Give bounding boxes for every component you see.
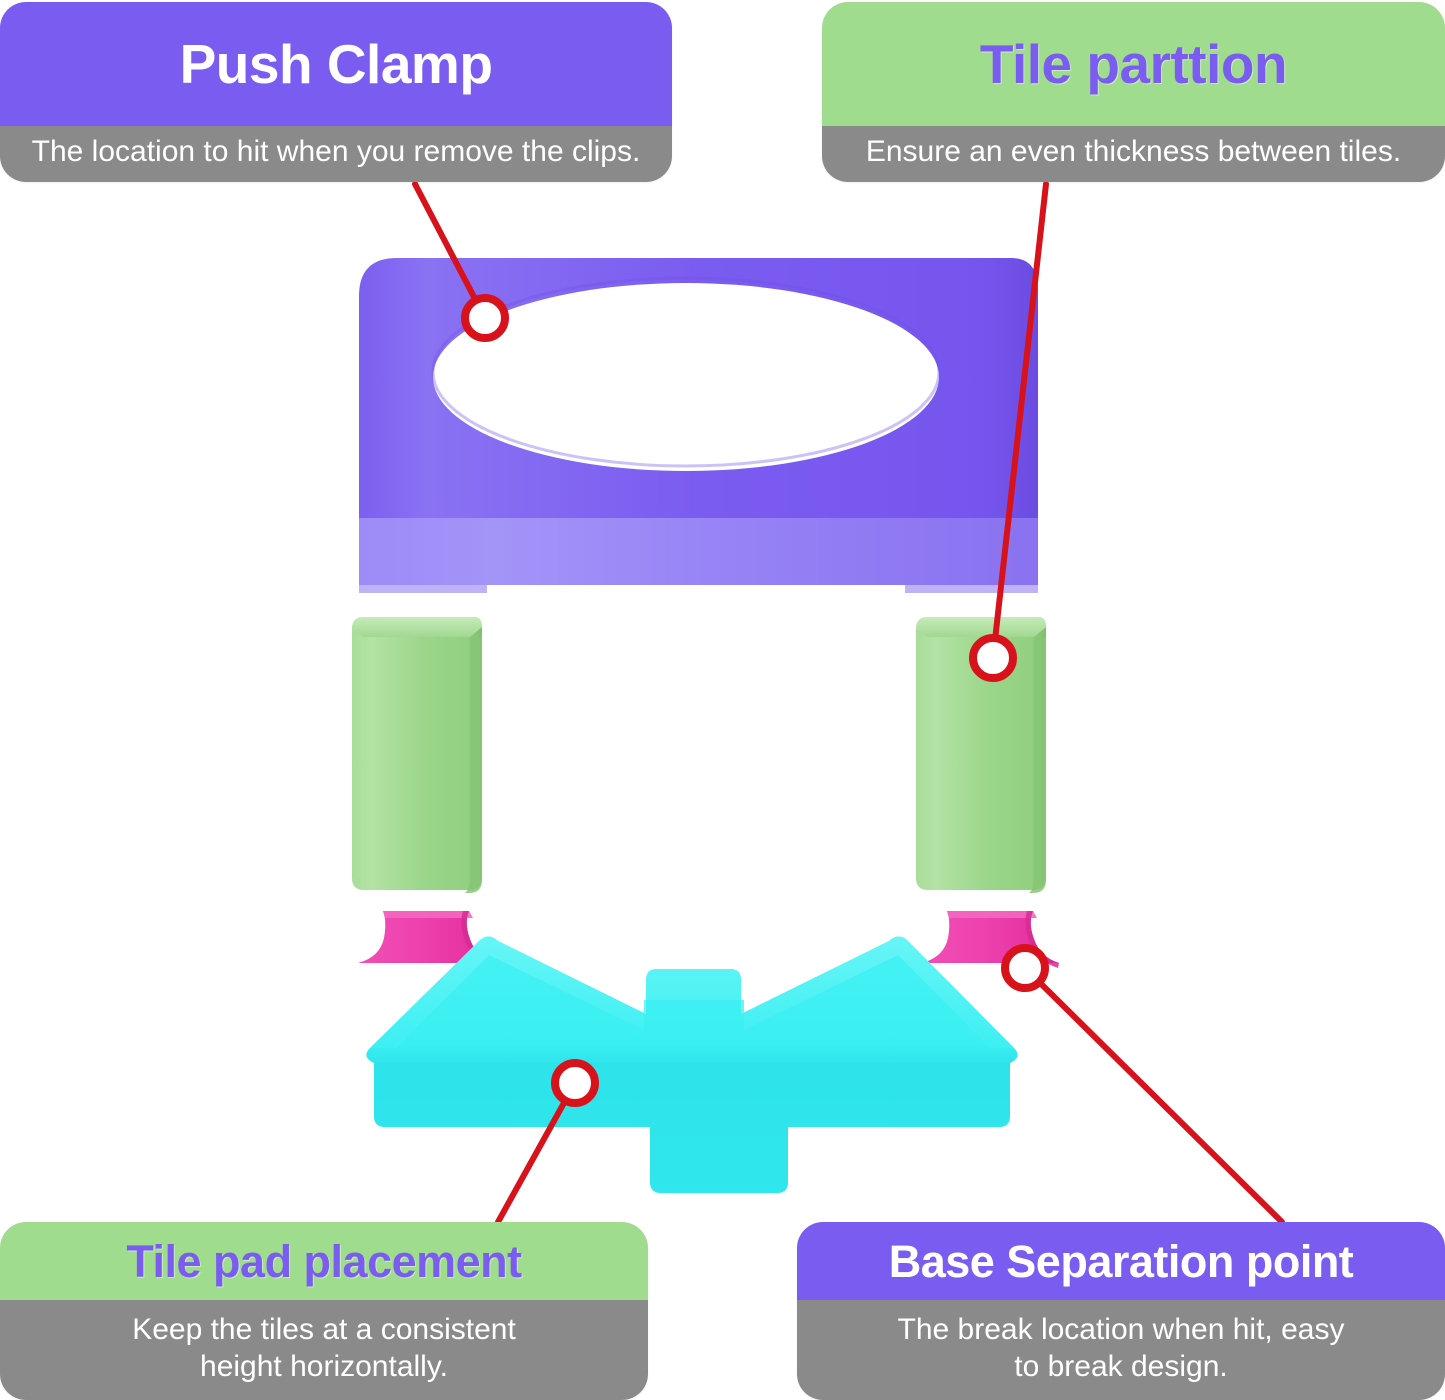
callout-title-push-clamp: Push Clamp	[0, 2, 672, 126]
callout-title-base-separation-point: Base Separation point	[797, 1222, 1445, 1300]
callout-card-tile-partition: Tile parttion Ensure an even thickness b…	[822, 2, 1445, 182]
callout-description-line: The location to hit when you remove the …	[32, 133, 641, 171]
callout-description-line: Keep the tiles at a consistent	[132, 1311, 516, 1349]
callout-title-tile-pad-placement: Tile pad placement	[0, 1222, 648, 1300]
callout-leader-layer	[0, 0, 1445, 1400]
callout-description-push-clamp: The location to hit when you remove the …	[0, 126, 672, 182]
infographic-stage: Push Clamp The location to hit when you …	[0, 0, 1445, 1400]
callout-title-tile-partition: Tile parttion	[822, 2, 1445, 126]
callout-card-base-separation-point: Base Separation point The break location…	[797, 1222, 1445, 1400]
callout-marker-tile-partition	[973, 638, 1013, 678]
callout-description-line: height horizontally.	[132, 1348, 516, 1386]
leader-line-tile-partition	[993, 184, 1046, 658]
callout-description-line: to break design.	[898, 1348, 1345, 1386]
leader-line-base-separation-point	[1025, 968, 1282, 1222]
callout-description-base-separation-point: The break location when hit, easy to bre…	[797, 1300, 1445, 1400]
callout-marker-tile-pad-placement	[555, 1063, 595, 1103]
callout-card-push-clamp: Push Clamp The location to hit when you …	[0, 2, 672, 182]
callout-description-line: The break location when hit, easy	[898, 1311, 1345, 1349]
callout-marker-push-clamp	[465, 298, 505, 338]
callout-marker-base-separation-point	[1005, 948, 1045, 988]
callout-description-line: Ensure an even thickness between tiles.	[866, 133, 1401, 171]
callout-description-tile-pad-placement: Keep the tiles at a consistent height ho…	[0, 1300, 648, 1400]
callout-description-tile-partition: Ensure an even thickness between tiles.	[822, 126, 1445, 182]
callout-card-tile-pad-placement: Tile pad placement Keep the tiles at a c…	[0, 1222, 648, 1400]
